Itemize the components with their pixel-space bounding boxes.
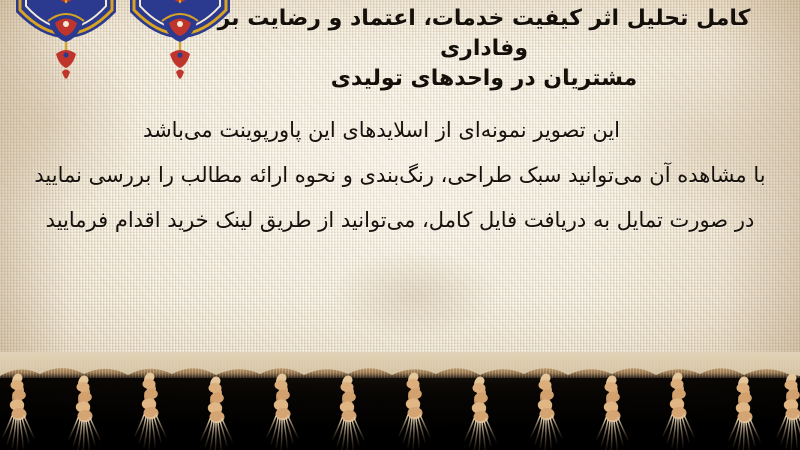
slide-title: کامل تحلیل اثر کیفیت خدمات، اعتماد و رضا… [194,4,774,94]
body-line-3: در صورت تمایل به دریافت فایل کامل، می‌تو… [0,198,800,243]
slide-body-text: این تصویر نمونه‌ای از اسلایدهای این پاور… [0,108,800,243]
slide-title-line-1: کامل تحلیل اثر کیفیت خدمات، اعتماد و رضا… [194,4,774,64]
carpet-fringe-decoration [0,352,800,450]
fringe-tassels-icon [0,352,800,450]
presentation-slide: کامل تحلیل اثر کیفیت خدمات، اعتماد و رضا… [0,0,800,450]
body-line-2: با مشاهده آن می‌توانید سبک طراحی، رنگ‌بن… [0,153,800,198]
texture-stain [330,250,500,340]
body-line-1: این تصویر نمونه‌ای از اسلایدهای این پاور… [0,108,800,153]
persian-medallion-motif-icon [14,0,118,108]
slide-title-line-2: مشتریان در واحدهای تولیدی [194,64,774,94]
